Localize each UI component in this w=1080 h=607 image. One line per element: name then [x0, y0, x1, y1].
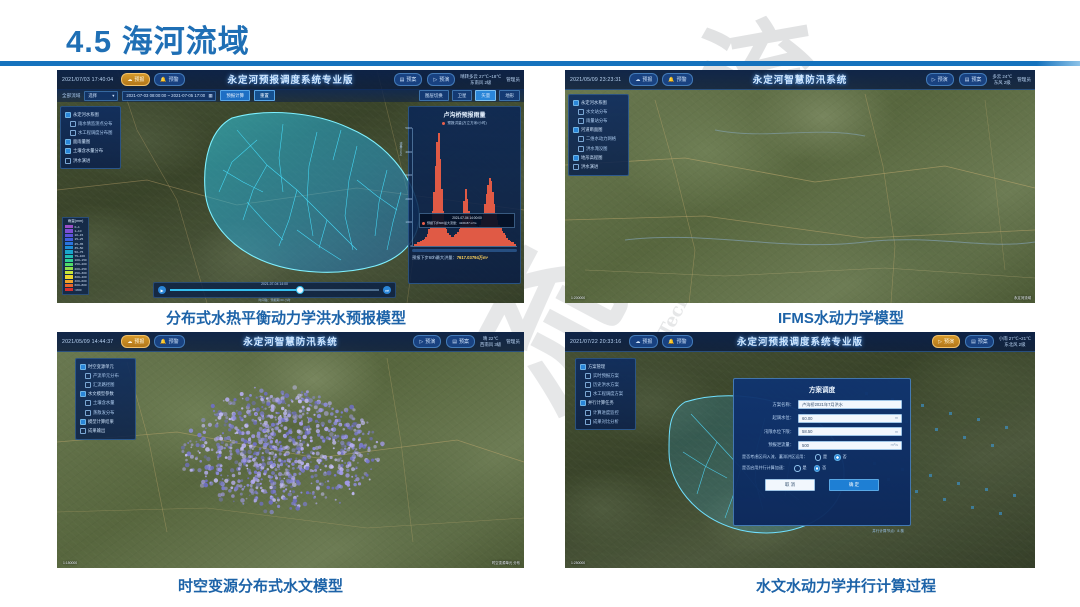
tree-item-7-label: 洪水演进 [581, 164, 598, 170]
cloud-icon: ☁ [127, 77, 132, 83]
radio-icon-selected [834, 454, 841, 461]
tree-item-6[interactable]: 模型计算结果 [78, 417, 133, 426]
y-tick: 4000 [405, 150, 412, 154]
calendar-icon: ▦ [208, 93, 212, 99]
tree-item-4[interactable]: 土壤含水量 [78, 399, 133, 408]
map-corner-tag-3: 时空变源单元 分布 [492, 560, 520, 565]
dialog-buttons: 取 消 确 定 [742, 479, 902, 491]
y-tick: 2000 [405, 197, 412, 201]
bell-icon: 🔔 [668, 77, 674, 83]
system-title: 永定河预报调度系统专业版 [227, 72, 353, 86]
tree-item-1[interactable]: 实时预报方案 [578, 371, 633, 380]
plan-button-label: 预案 [406, 76, 416, 83]
series-color-swatch [442, 122, 445, 125]
tree-item-1[interactable]: 雨水情监测点分布 [63, 119, 118, 128]
radio-icon-selected [814, 465, 821, 472]
tree-item-5-label: 洪水演进 [73, 158, 90, 164]
check-icon [585, 382, 591, 388]
map-corner-tag-2: 永定河流域 [1014, 295, 1031, 300]
caption-panel-3: 时空变源分布式水文模型 [178, 575, 343, 596]
play-icon: ▷ [938, 339, 942, 345]
tooltip-row-label: 预报下步60h最大流量：4169.87 m³/s [427, 221, 477, 225]
date-range-input[interactable]: 2021-07-03 08:00:00 ~ 2021-07-05 17:00 ▦ [122, 91, 216, 101]
cloud-icon: ☁ [635, 77, 640, 83]
chart-bars [414, 128, 516, 246]
user-label[interactable]: 管理员 [1017, 77, 1031, 83]
dialog-title: 方案调度 [742, 384, 902, 394]
tree-item-4-label: 并行计算任务 [588, 400, 614, 406]
check-icon [70, 130, 76, 136]
legend-color-swatch [65, 234, 73, 237]
tree-item-4[interactable]: 二维水动力网格 [571, 135, 626, 144]
layer-vector-button[interactable]: 矢量 [475, 90, 496, 101]
tree-item-2-label: 雨量站分布 [586, 118, 607, 124]
tree-item-2[interactable]: 汇流路径图 [78, 380, 133, 389]
panel4-layer-tree[interactable]: 方案管理 实时预报方案 历史洪水方案 水工程调度方案 并行计算任务 计算进度监控… [575, 358, 636, 430]
legend-color-swatch [65, 225, 73, 228]
dialog-field-3: 预报泄流量： 500 m³/s [742, 441, 902, 450]
cancel-button[interactable]: 取 消 [765, 479, 815, 491]
run-forecast-button[interactable]: 预报计算 [220, 90, 250, 101]
start-level-unit: m [895, 416, 898, 420]
legend-row: >800 [65, 288, 86, 292]
radio-icon [794, 465, 801, 472]
tree-item-0-label: 时空变源单元 [88, 364, 114, 370]
radio-1-yes[interactable]: 是 [794, 465, 807, 472]
layer-switch-button[interactable]: 图层切换 [419, 90, 449, 101]
screenshot-panel-4: 2021/07/22 20:33:16 ☁ 预报 🔔 预警 永定河预报调度系统专… [565, 332, 1035, 568]
flood-limit-unit: m [895, 430, 898, 434]
warning-button-label: 预警 [677, 338, 687, 345]
caption-panel-2: IFMS水动力学模型 [778, 307, 904, 328]
flow-icon [573, 164, 579, 170]
topbar-right: ▷ 预演 ▤ 预案 小雨 27℃~21℃ 东北风 2级 [932, 335, 1031, 348]
forecast-button-label: 预报 [642, 338, 652, 345]
weather-line-1: 小雨 27℃~21℃ [999, 336, 1031, 341]
user-label[interactable]: 管理员 [506, 339, 520, 345]
screenshot-panel-3: 2021/05/09 14:44:37 ☁ 预报 🔔 预警 永定河智慧防汛系统 … [57, 332, 524, 568]
tree-item-7[interactable]: 洪水演进 [571, 162, 626, 171]
tree-item-2-label: 水工程调度分布图 [78, 130, 112, 136]
forecast-button[interactable]: ☁ 预报 [121, 335, 150, 348]
scheme-name-value: 卢沟桥2021年7月洪水 [802, 402, 843, 408]
legend-color-swatch [65, 250, 73, 253]
layer-icon [80, 391, 86, 397]
confirm-button[interactable]: 确 定 [829, 479, 879, 491]
date-range-value: 2021-07-03 08:00:00 ~ 2021-07-05 17:00 [126, 93, 205, 98]
discharge-unit: m³/s [891, 443, 898, 447]
legend-color-swatch [65, 267, 73, 270]
chevron-down-icon: ▾ [112, 93, 114, 99]
tree-item-0[interactable]: 永定河水系图 [571, 98, 626, 107]
map-scale-2: 1:200000 [571, 296, 585, 300]
play-icon[interactable]: ▶ [158, 286, 166, 294]
scheme-select[interactable]: 选择 ▾ [84, 91, 118, 101]
timeline-handle[interactable] [296, 286, 304, 294]
rainfall-legend: 雨量(mm) 0~11~1010~1515~2525~3535~5050~757… [62, 217, 89, 295]
tree-item-4[interactable]: 土壤含水量分布 [63, 147, 118, 156]
layer-terrain-button[interactable]: 地形 [499, 90, 520, 101]
layer-icon [65, 139, 71, 145]
chart-legend[interactable]: 预报洪量(万立方米/小时) [412, 121, 517, 126]
tree-item-6-label: 模型计算结果 [88, 419, 114, 425]
chart-legend-label: 预报洪量(万立方米/小时) [447, 121, 486, 126]
warning-button-label: 预警 [677, 76, 687, 83]
tree-item-2-label: 历史洪水方案 [593, 382, 619, 388]
chart-tooltip: 2021-07-04 14:00:00 预报下步60h最大流量：4169.87 … [419, 213, 515, 228]
tree-item-5[interactable]: 蒸散发分布 [78, 408, 133, 417]
bell-icon: 🔔 [160, 77, 166, 83]
play-icon: ▷ [932, 77, 936, 83]
start-level-input[interactable]: 60.00 m [798, 414, 902, 423]
legend-title: 雨量(mm) [65, 220, 86, 224]
tooltip-color-swatch [422, 222, 425, 225]
legend-color-swatch [65, 238, 73, 241]
check-icon [85, 410, 91, 416]
discharge-value: 500 [802, 443, 809, 448]
tree-item-1-label: 水文站分布 [586, 109, 607, 115]
reset-button[interactable]: 重置 [254, 90, 275, 101]
chart-footer: 预报下步60h最大洪量：7617.03794万m³ [412, 255, 517, 261]
check-icon [85, 373, 91, 379]
warning-button[interactable]: 🔔 预警 [662, 73, 692, 86]
tree-item-1-label: 产流单元分布 [93, 373, 119, 379]
topbar-right: ▷ 预演 ▤ 预案 晴 22℃ 西南风 3级 管理员 [413, 335, 520, 348]
legend-color-swatch [65, 255, 73, 258]
dialog-radio-1: 是否启用并行计算加速： 是 否 [742, 465, 902, 472]
dialog-field-1: 起调水位： 60.00 m [742, 414, 902, 423]
tree-item-1[interactable]: 水文站分布 [571, 107, 626, 116]
timeline-caption: 2021-07-04 14:00 [261, 282, 288, 286]
legend-color-swatch [65, 229, 73, 232]
tree-item-0-label: 方案管理 [588, 364, 605, 370]
rehearsal-button[interactable]: ▷ 预演 [413, 335, 441, 348]
chart-scrollbar[interactable] [412, 249, 517, 252]
rainfall-chart-panel: 卢沟桥预报雨量 预报洪量(万立方米/小时) 流量(m³/s) 500040003… [408, 106, 521, 284]
tree-item-0[interactable]: 时空变源单元 [78, 362, 133, 371]
legend-color-swatch [65, 280, 73, 283]
panel3-topbar: 2021/05/09 14:44:37 ☁ 预报 🔔 预警 永定河智慧防汛系统 … [57, 332, 524, 352]
panel2-layer-tree[interactable]: 永定河水系图 水文站分布 雨量站分布 河道断面图 二维水动力网格 洪水淹没图 地… [568, 94, 629, 176]
system-time: 2021/05/09 23:23:31 [570, 77, 621, 83]
radio-1-label: 是否启用并行计算加速： [742, 465, 787, 471]
forecast-button-label: 预报 [134, 338, 144, 345]
folder-icon [80, 364, 86, 370]
bell-icon: 🔔 [668, 339, 674, 345]
weather-widget: 小雨 27℃~21℃ 东北风 2级 [999, 336, 1031, 347]
map-canvas-1[interactable]: 2021/07/03 17:40:04 ☁ 预报 🔔 预警 永定河预报调度系统专… [57, 70, 524, 303]
tree-item-6[interactable]: 地形高程图 [571, 153, 626, 162]
forecast-button-label: 预报 [642, 76, 652, 83]
forecast-button[interactable]: ☁ 预报 [121, 73, 150, 86]
legend-color-swatch [65, 284, 73, 287]
tree-item-7-label: 成果输出 [88, 428, 105, 434]
plan-button-label: 预案 [459, 338, 469, 345]
topbar-left-buttons: ☁ 预报 🔔 预警 [629, 335, 692, 348]
warning-button-label: 预警 [169, 76, 179, 83]
chart-footer-value: 7617.03794万m³ [457, 255, 488, 260]
tree-item-1[interactable]: 产流单元分布 [78, 371, 133, 380]
dialog-note: 并行计算节点：8 核 [872, 529, 904, 534]
chart-y-axis: 500040003000200010000 [402, 128, 413, 246]
forecast-button[interactable]: ☁ 预报 [629, 73, 658, 86]
timeline-track[interactable]: 2021-07-04 14:00 时间轴：预报期 60 小时 [170, 289, 379, 291]
check-icon [578, 109, 584, 115]
tree-item-6-label: 地形高程图 [581, 155, 602, 161]
system-time: 2021/07/22 20:33:16 [570, 339, 621, 345]
tree-item-1-label: 雨水情监测点分布 [78, 121, 112, 127]
rehearsal-button-label: 预演 [425, 338, 435, 345]
timeline-sublabel: 时间轴：预报期 60 小时 [258, 298, 290, 302]
legend-color-swatch [65, 242, 73, 245]
topbar-right: ▤ 预案 ▷ 预演 晴转多云 27℃~18℃ 东南风 2级 管理员 [394, 73, 520, 86]
tree-item-6-label: 成果对比分析 [593, 419, 619, 425]
dialog-field-2-label: 汛限水位下限： [742, 429, 798, 435]
radio-0-yes[interactable]: 是 [815, 454, 828, 461]
screenshot-panel-1: 2021/07/03 17:40:04 ☁ 预报 🔔 预警 永定河预报调度系统专… [57, 70, 524, 303]
radio-0-no-label: 否 [843, 454, 847, 460]
flow-icon [80, 428, 86, 434]
y-tick: 0 [410, 244, 412, 248]
weather-widget: 多云 24℃ 东风 2级 [992, 74, 1012, 85]
panel1-layer-tree[interactable]: 永定河水系图 雨水情监测点分布 水工程调度分布图 面雨量图 土壤含水量分布 洪水… [60, 106, 121, 169]
plan-button-label: 预案 [971, 76, 981, 83]
system-time: 2021/07/03 17:40:04 [62, 77, 113, 83]
warning-button[interactable]: 🔔 预警 [154, 335, 184, 348]
rehearsal-button-label: 预演 [944, 338, 954, 345]
scheme-dispatch-dialog[interactable]: 方案调度 方案名称： 卢沟桥2021年7月洪水 起调水位： 60.00 m 汛限… [733, 378, 911, 526]
radio-0-no[interactable]: 否 [834, 454, 847, 461]
tooltip-row: 预报下步60h最大流量：4169.87 m³/s [422, 221, 512, 225]
tree-item-7[interactable]: 成果输出 [78, 426, 133, 435]
play-icon: ▷ [433, 77, 437, 83]
check-icon [70, 121, 76, 127]
rehearsal-button-label: 预演 [938, 76, 948, 83]
layer-icon [573, 127, 579, 133]
chart-bar [514, 244, 516, 246]
rehearsal-button[interactable]: ▷ 预演 [932, 335, 960, 348]
forecast-button[interactable]: ☁ 预报 [629, 335, 658, 348]
tree-item-3-label: 水工程调度方案 [593, 391, 623, 397]
user-label[interactable]: 管理员 [506, 77, 520, 83]
tree-item-5-label: 蒸散发分布 [93, 410, 114, 416]
weather-line-1: 多云 24℃ [992, 74, 1012, 79]
tree-item-2[interactable]: 历史洪水方案 [578, 380, 633, 389]
tree-item-4[interactable]: 并行计算任务 [578, 399, 633, 408]
scheme-select-value: 选择 [88, 93, 97, 99]
dialog-field-0-label: 方案名称： [742, 402, 798, 408]
check-icon [578, 146, 584, 152]
tree-item-3[interactable]: 水工程调度方案 [578, 390, 633, 399]
check-icon [585, 419, 591, 425]
plan-button[interactable]: ▤ 预案 [394, 73, 423, 86]
caption-panel-1: 分布式水热平衡动力学洪水预报模型 [166, 307, 406, 328]
chart-title: 卢沟桥预报雨量 [412, 110, 517, 119]
legend-color-swatch [65, 271, 73, 274]
system-time: 2021/05/09 14:44:37 [62, 339, 113, 345]
tree-item-3[interactable]: 面雨量图 [63, 138, 118, 147]
check-icon [585, 391, 591, 397]
folder-icon [580, 364, 586, 370]
rehearsal-button-label: 预演 [439, 76, 449, 83]
weather-line-2: 东北风 2级 [1004, 342, 1025, 347]
check-icon [85, 400, 91, 406]
tree-item-2[interactable]: 雨量站分布 [571, 116, 626, 125]
plan-button-label: 预案 [978, 338, 988, 345]
tree-item-2[interactable]: 水工程调度分布图 [63, 128, 118, 137]
caption-panel-4: 水文水动力学并行计算过程 [756, 575, 936, 596]
tree-item-0[interactable]: 永定河水系图 [63, 110, 118, 119]
doc-icon: ▤ [965, 77, 970, 83]
warning-button[interactable]: 🔔 预警 [154, 73, 184, 86]
map-canvas-3[interactable]: 2021/05/09 14:44:37 ☁ 预报 🔔 预警 永定河智慧防汛系统 … [57, 332, 524, 568]
tree-item-2-label: 汇流路径图 [93, 382, 114, 388]
weather-line-2: 西南风 3级 [480, 342, 501, 347]
scheme-name-input[interactable]: 卢沟桥2021年7月洪水 [798, 400, 902, 409]
weather-widget: 晴 22℃ 西南风 3级 [480, 336, 501, 347]
tree-item-0-label: 永定河水系图 [73, 112, 99, 118]
topbar-left-buttons: ☁ 预报 🔔 预警 [629, 73, 692, 86]
dialog-field-0: 方案名称： 卢沟桥2021年7月洪水 [742, 400, 902, 409]
dialog-field-1-label: 起调水位： [742, 415, 798, 421]
tree-item-5-label: 洪水淹没图 [586, 146, 607, 152]
radio-0-yes-label: 是 [823, 454, 827, 460]
weather-line-2: 东风 2级 [994, 80, 1011, 85]
doc-icon: ▤ [971, 339, 976, 345]
tree-item-0-label: 永定河水系图 [581, 100, 607, 106]
system-title: 永定河预报调度系统专业版 [737, 334, 863, 348]
check-icon [578, 136, 584, 142]
tree-item-5[interactable]: 洪水淹没图 [571, 144, 626, 153]
tree-item-4-label: 二维水动力网格 [586, 136, 616, 142]
weather-line-2: 东南风 2级 [470, 80, 491, 85]
doc-icon: ▤ [400, 77, 405, 83]
plan-button[interactable]: ▤ 预案 [959, 73, 988, 86]
title-divider [0, 61, 1080, 66]
weather-line-1: 晴 22℃ [483, 336, 498, 341]
map-scale-3: 1:150000 [63, 561, 77, 565]
tree-item-6[interactable]: 成果对比分析 [578, 417, 633, 426]
radio-1-no[interactable]: 否 [814, 465, 827, 472]
map-canvas-4[interactable]: 2021/07/22 20:33:16 ☁ 预报 🔔 预警 永定河预报调度系统专… [565, 332, 1035, 568]
tree-item-5[interactable]: 计算进度监控 [578, 408, 633, 417]
panel1-subtoolbar: 全部流域 选择 ▾ 2021-07-03 08:00:00 ~ 2021-07-… [57, 89, 524, 102]
dialog-field-2: 汛限水位下限： 58.50 m [742, 427, 902, 436]
plan-button[interactable]: ▤ 预案 [446, 335, 475, 348]
radio-0-options: 是 否 [815, 454, 847, 461]
tree-item-1-label: 实时预报方案 [593, 373, 619, 379]
doc-icon: ▤ [452, 339, 457, 345]
radio-1-yes-label: 是 [803, 465, 807, 471]
system-title: 永定河智慧防汛系统 [753, 72, 848, 86]
warning-button[interactable]: 🔔 预警 [662, 335, 692, 348]
y-tick: 5000 [405, 126, 412, 130]
bell-icon: 🔔 [160, 339, 166, 345]
legend-color-swatch [65, 288, 73, 291]
legend-color-swatch [65, 275, 73, 278]
check-icon [85, 382, 91, 388]
cloud-icon: ☁ [127, 339, 132, 345]
tree-item-5[interactable]: 洪水演进 [63, 156, 118, 165]
flow-icon [80, 419, 86, 425]
folder-icon [573, 100, 579, 106]
chart-footer-label: 预报下步60h最大洪量： [412, 255, 457, 260]
layer-satellite-button[interactable]: 卫星 [452, 90, 473, 101]
flood-limit-input[interactable]: 58.50 m [798, 427, 902, 436]
tree-item-5-label: 计算进度监控 [593, 410, 619, 416]
layer-switch-group: 图层切换 卫星 矢量 地形 [419, 90, 520, 101]
panel4-topbar: 2021/07/22 20:33:16 ☁ 预报 🔔 预警 永定河预报调度系统专… [565, 332, 1035, 352]
page-title: 4.5 海河流域 [66, 16, 250, 61]
chart-plot-area: 流量(m³/s) 500040003000200010000 2021-07-0… [412, 128, 517, 247]
animation-timeline[interactable]: ▶ 2021-07-04 14:00 时间轴：预报期 60 小时 ⏭ [153, 282, 396, 298]
layer-icon [580, 400, 586, 406]
tree-item-4-label: 土壤含水量分布 [73, 148, 103, 154]
tree-item-3-label: 面雨量图 [73, 139, 90, 145]
layer-icon [65, 148, 71, 154]
radio-0-label: 是否考虑区间入流、蓄滞洪区运用： [742, 454, 808, 460]
tree-item-3[interactable]: 水文模型参数 [78, 390, 133, 399]
timeline-progress [170, 289, 300, 291]
check-icon [578, 118, 584, 124]
flood-limit-value: 58.50 [802, 429, 812, 434]
radio-1-options: 是 否 [794, 465, 826, 472]
topbar-left-buttons: ☁ 预报 🔔 预警 [121, 73, 184, 86]
y-tick: 3000 [405, 173, 412, 177]
panel1-topbar: 2021/07/03 17:40:04 ☁ 预报 🔔 预警 永定河预报调度系统专… [57, 70, 524, 90]
layer-icon [573, 155, 579, 161]
map-roads [565, 70, 1035, 303]
system-title: 永定河智慧防汛系统 [243, 334, 338, 348]
rehearsal-button[interactable]: ▷ 预演 [427, 73, 455, 86]
panel2-topbar: 2021/05/09 23:23:31 ☁ 预报 🔔 预警 永定河智慧防汛系统 … [565, 70, 1035, 90]
timeline-next-icon[interactable]: ⏭ [383, 286, 391, 294]
scheme-label: 全部流域 [62, 93, 80, 99]
tree-item-0[interactable]: 方案管理 [578, 362, 633, 371]
cloud-icon: ☁ [635, 339, 640, 345]
legend-color-swatch [65, 246, 73, 249]
panel3-layer-tree[interactable]: 时空变源单元 产流单元分布 汇流路径图 水文模型参数 土壤含水量 蒸散发分布 模… [75, 358, 136, 440]
topbar-left-buttons: ☁ 预报 🔔 预警 [121, 335, 184, 348]
legend-color-swatch [65, 263, 73, 266]
check-icon [585, 373, 591, 379]
tree-item-4-label: 土壤含水量 [93, 400, 114, 406]
flow-icon [65, 158, 71, 164]
discharge-input[interactable]: 500 m³/s [798, 441, 902, 450]
plan-button[interactable]: ▤ 预案 [965, 335, 994, 348]
legend-rows: 0~11~1010~1515~2525~3535~5050~7575~10010… [65, 225, 86, 291]
check-icon [585, 410, 591, 416]
dialog-field-3-label: 预报泄流量： [742, 442, 798, 448]
tree-item-3-label: 河道断面图 [581, 127, 602, 133]
radio-icon [815, 454, 822, 461]
y-tick: 1000 [405, 220, 412, 224]
play-icon: ▷ [419, 339, 423, 345]
rehearsal-button[interactable]: ▷ 预演 [926, 73, 954, 86]
start-level-value: 60.00 [802, 416, 812, 421]
legend-label: >800 [75, 288, 82, 292]
forecast-button-label: 预报 [134, 76, 144, 83]
radio-1-no-label: 否 [822, 465, 826, 471]
legend-color-swatch [65, 259, 73, 262]
weather-widget: 晴转多云 27℃~18℃ 东南风 2级 [460, 74, 501, 85]
weather-line-1: 晴转多云 27℃~18℃ [460, 74, 501, 79]
tree-item-3-label: 水文模型参数 [88, 391, 114, 397]
dialog-radio-0: 是否考虑区间入流、蓄滞洪区运用： 是 否 [742, 454, 902, 461]
tree-item-3[interactable]: 河道断面图 [571, 126, 626, 135]
folder-icon [65, 112, 71, 118]
map-canvas-2[interactable]: 2021/05/09 23:23:31 ☁ 预报 🔔 预警 永定河智慧防汛系统 … [565, 70, 1035, 303]
